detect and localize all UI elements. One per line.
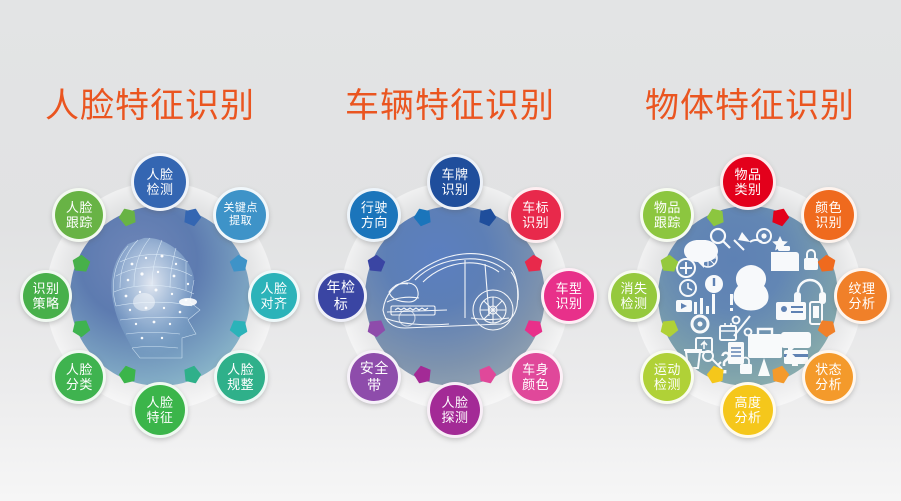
badge-label: 颜色 识别 [813,200,844,230]
badge-label: 行驶 方向 [359,200,390,230]
badge-object-feature-recognition-4[interactable]: 高度 分析 [720,382,776,438]
badge-vehicle-feature-recognition-3[interactable]: 车身 颜色 [509,350,563,404]
cluster-vehicle: 车牌 识别车标 识别车型 识别车身 颜色人脸 探测安全 带年检 标行驶 方向 [305,150,605,450]
badge-vehicle-feature-recognition-4[interactable]: 人脸 探测 [427,382,483,438]
badge-label: 物品 跟踪 [652,200,683,230]
badge-label: 关键点 提取 [221,202,260,228]
badge-label: 消失 检测 [618,281,649,311]
badge-label: 识别 策略 [30,281,61,311]
badge-label: 安全 带 [358,360,391,394]
badge-object-feature-recognition-6[interactable]: 消失 检测 [608,270,660,322]
cluster-object: 物品 类别颜色 识别纹理 分析状态 分析高度 分析运动 检测消失 检测物品 跟踪 [598,150,898,450]
badge-face-feature-recognition-2[interactable]: 人脸 对齐 [248,270,300,322]
badge-label: 车身 颜色 [520,362,551,392]
badge-label: 人脸 跟踪 [64,200,95,230]
badge-label: 人脸 对齐 [258,281,289,311]
badge-object-feature-recognition-2[interactable]: 纹理 分析 [834,268,890,324]
badge-label: 高度 分析 [732,395,763,425]
badge-object-feature-recognition-0[interactable]: 物品 类别 [720,154,776,210]
badge-object-feature-recognition-5[interactable]: 运动 检测 [640,350,694,404]
badge-face-feature-recognition-5[interactable]: 人脸 分类 [52,350,106,404]
badge-object-feature-recognition-3[interactable]: 状态 分析 [802,350,856,404]
badge-vehicle-feature-recognition-6[interactable]: 年检 标 [315,270,367,322]
badge-vehicle-feature-recognition-1[interactable]: 车标 识别 [508,187,564,243]
badge-label: 人脸 分类 [64,362,95,392]
badge-label: 人脸 规整 [225,362,256,392]
badge-vehicle-feature-recognition-0[interactable]: 车牌 识别 [427,154,483,210]
badge-face-feature-recognition-1[interactable]: 关键点 提取 [213,187,269,243]
badge-vehicle-feature-recognition-2[interactable]: 车型 识别 [541,268,597,324]
badge-face-feature-recognition-4[interactable]: 人脸 特征 [132,382,188,438]
cluster-title-face: 人脸特征识别 [0,84,300,128]
badge-label: 人脸 探测 [439,395,470,425]
badge-face-feature-recognition-0[interactable]: 人脸 检测 [131,153,189,211]
cluster-title-vehicle: 车辆特征识别 [300,84,600,128]
badge-label: 状态 分析 [813,362,844,392]
badge-face-feature-recognition-6[interactable]: 识别 策略 [20,270,72,322]
badge-label: 车牌 识别 [439,167,470,197]
badge-label: 运动 检测 [652,362,683,392]
badge-label: 纹理 分析 [846,281,877,311]
badge-label: 人脸 特征 [144,395,175,425]
badge-label: 物品 类别 [732,167,763,197]
badge-vehicle-feature-recognition-5[interactable]: 安全 带 [347,350,401,404]
badge-label: 车型 识别 [553,281,584,311]
badge-face-feature-recognition-3[interactable]: 人脸 规整 [214,350,268,404]
badge-label: 年检 标 [325,279,358,313]
badge-label: 人脸 检测 [144,167,175,197]
cluster-face: 人脸 检测关键点 提取人脸 对齐人脸 规整人脸 特征人脸 分类识别 策略人脸 跟… [10,150,310,450]
badge-object-feature-recognition-1[interactable]: 颜色 识别 [801,187,857,243]
infographic-canvas: 人脸特征识别 车辆特征识别 物体特征识别 [0,0,901,501]
cluster-title-object: 物体特征识别 [600,84,900,128]
badge-label: 车标 识别 [520,200,551,230]
